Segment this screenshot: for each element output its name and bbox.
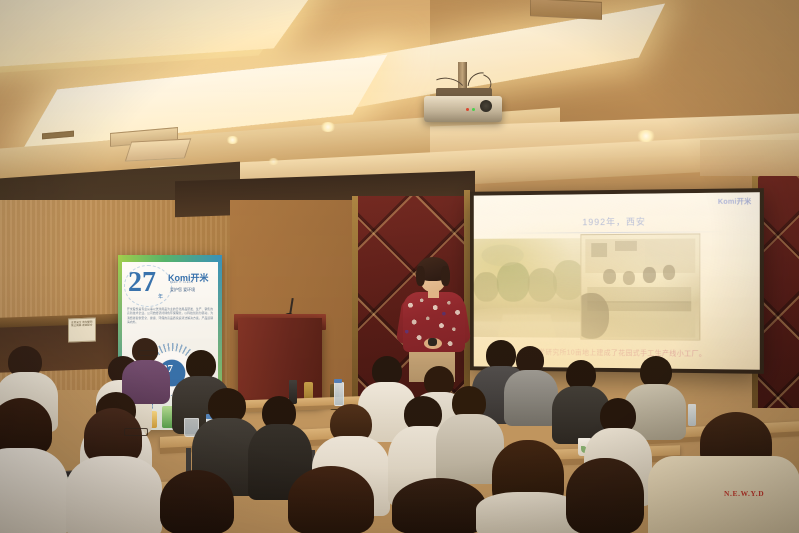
slide-photo-park: [474, 238, 587, 338]
air-vent-left-face: [125, 138, 191, 161]
presenter-hair-side-left: [416, 266, 425, 286]
audience-head-f4: [288, 466, 374, 533]
audience-head-f3: [160, 470, 234, 533]
presenter-hair-side-right: [441, 266, 450, 286]
eyeglasses-icon-f2: [124, 428, 148, 436]
banner-brand-subtitle: KEEP IT CLEAN: [170, 281, 193, 284]
audience-head-f7: [566, 458, 644, 533]
slide-brand-latin: Komi: [718, 199, 737, 206]
banner-top-stripe: [118, 255, 222, 262]
projector-lens-icon: [480, 100, 492, 112]
banner-anniversary-unit: 年: [158, 293, 163, 300]
slide-brand-logo: Komi开米: [718, 196, 752, 207]
slide-photo-workshop: [580, 233, 700, 340]
audience-body-b8: [504, 370, 558, 426]
audience-body-f1: [0, 448, 68, 533]
water-bottle-back-cap: [334, 379, 342, 383]
downlight-icon-4: [268, 158, 279, 165]
banner-body-text: 开米股份是专业从事以洗涤用品为主的日化用品研发、生产、销售的高新技术企业。公司始…: [127, 307, 213, 324]
wall-upper-right: [700, 140, 799, 176]
banner-tagline: 爱护您 爱环境: [170, 287, 195, 293]
banner-anniversary-number: 27: [128, 269, 156, 297]
downlight-icon-3: [636, 130, 656, 142]
audience-head-f5: [392, 478, 486, 533]
water-bottle-back: [334, 382, 344, 406]
slide-title: 1992年，西安: [474, 214, 760, 229]
projection-screen: Komi开米 1992年，西安: [470, 188, 764, 374]
projector-status-led-icon: [472, 108, 475, 111]
water-bottle-right-back: [688, 404, 696, 426]
audience-body-f2: [66, 456, 162, 533]
wall-notice-plaque: 注意安全 请勿攀爬 禁止倚靠 谢谢配合: [68, 318, 96, 343]
conference-room-photo: 注意安全 请勿攀爬 禁止倚靠 谢谢配合 Komi开米 1992年，西安: [0, 0, 799, 533]
projection-screen-surface: Komi开米 1992年，西安: [474, 192, 760, 369]
projector-power-led-icon: [466, 108, 469, 111]
slide-brand-cn: 开米: [737, 198, 752, 205]
shirt-print-text: N.E.W.Y.D: [724, 489, 764, 498]
presenter-clicker-icon: [428, 338, 437, 346]
downlight-icon-1: [320, 122, 336, 132]
audience-body-f6: [476, 492, 580, 533]
eyeglasses-icon-b3: [138, 350, 158, 356]
banner-brand-cn: 开米: [191, 273, 209, 283]
downlight-icon-2: [226, 136, 239, 144]
